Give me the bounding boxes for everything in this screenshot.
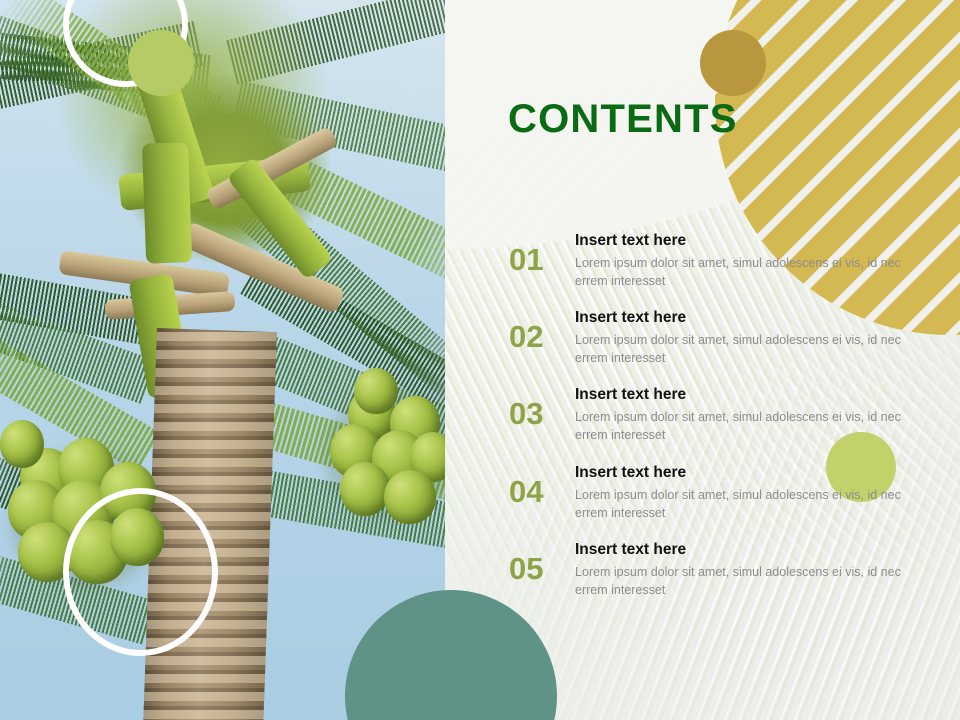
list-item-number: 02 xyxy=(509,321,565,352)
list-item[interactable]: 04 Insert text here Lorem ipsum dolor si… xyxy=(445,464,960,542)
slide-canvas: CONTENTS 01 Insert text here Lorem ipsum… xyxy=(0,0,960,720)
list-item[interactable]: 05 Insert text here Lorem ipsum dolor si… xyxy=(445,541,960,619)
list-item-heading: Insert text here xyxy=(575,309,686,328)
list-item[interactable]: 03 Insert text here Lorem ipsum dolor si… xyxy=(445,386,960,464)
list-item-body: Lorem ipsum dolor sit amet, simul adoles… xyxy=(575,563,905,599)
list-item-heading: Insert text here xyxy=(575,541,686,560)
list-item-body: Lorem ipsum dolor sit amet, simul adoles… xyxy=(575,408,905,444)
ring-outline-bottom-left-icon xyxy=(63,488,218,656)
list-item-heading: Insert text here xyxy=(575,464,686,483)
coconut xyxy=(340,462,390,516)
coconut xyxy=(354,368,398,414)
coconut-palm-photo xyxy=(0,0,445,720)
list-item-heading: Insert text here xyxy=(575,386,686,405)
list-item-number: 04 xyxy=(509,476,565,507)
list-item-body: Lorem ipsum dolor sit amet, simul adoles… xyxy=(575,254,905,290)
coconut xyxy=(0,420,44,468)
list-item-number: 01 xyxy=(509,244,565,275)
list-item-number: 05 xyxy=(509,553,565,584)
list-item[interactable]: 01 Insert text here Lorem ipsum dolor si… xyxy=(445,232,960,310)
list-item-body: Lorem ipsum dolor sit amet, simul adoles… xyxy=(575,486,905,522)
list-item[interactable]: 02 Insert text here Lorem ipsum dolor si… xyxy=(445,309,960,387)
list-item-number: 03 xyxy=(509,398,565,429)
contents-list: 01 Insert text here Lorem ipsum dolor si… xyxy=(445,0,960,720)
palm-petiole xyxy=(142,142,192,264)
coconut xyxy=(384,470,436,524)
green-circle-top-left-decoration xyxy=(128,30,194,96)
list-item-heading: Insert text here xyxy=(575,232,686,251)
list-item-body: Lorem ipsum dolor sit amet, simul adoles… xyxy=(575,331,905,367)
